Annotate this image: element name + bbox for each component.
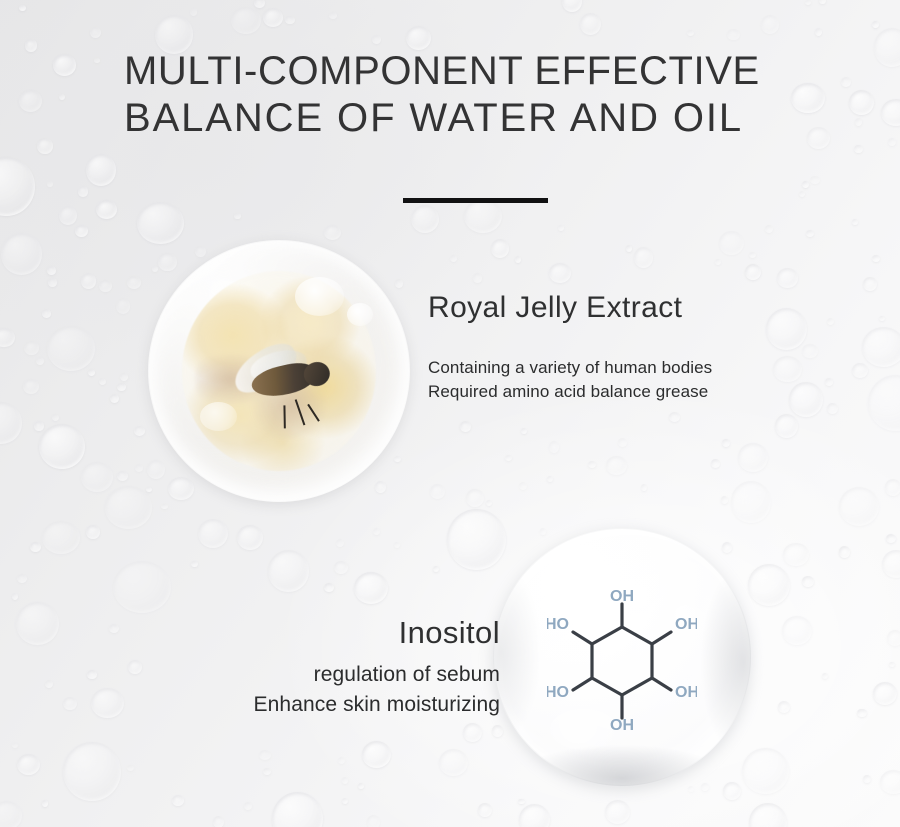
water-droplet	[810, 176, 820, 185]
water-droplet	[519, 482, 527, 490]
water-droplet	[86, 154, 116, 186]
water-droplet	[19, 5, 26, 12]
water-droplet	[433, 566, 439, 572]
water-droplet	[719, 231, 743, 255]
title-divider-bar	[403, 198, 548, 203]
water-droplet	[234, 213, 240, 220]
water-droplet	[715, 259, 721, 265]
water-droplet	[75, 225, 88, 237]
bond-lower-right	[652, 678, 671, 690]
water-droplet	[99, 378, 106, 385]
water-droplet	[94, 58, 100, 64]
water-droplet	[641, 484, 647, 491]
water-droplet	[515, 256, 521, 262]
water-droplet	[47, 326, 95, 372]
water-droplet	[47, 266, 56, 275]
water-droplet	[605, 800, 630, 824]
water-droplet	[783, 543, 808, 566]
water-droplet	[450, 255, 457, 262]
bubble-highlight	[347, 303, 373, 327]
water-droplet	[841, 77, 852, 87]
water-droplet	[36, 357, 44, 365]
water-droplet	[109, 624, 119, 633]
water-droplet	[158, 253, 176, 272]
water-droplet	[17, 754, 40, 776]
water-droplet	[731, 481, 770, 523]
water-droplet	[23, 379, 39, 394]
water-droplet	[547, 476, 553, 483]
ingredient-description-line: regulation of sebum	[254, 660, 500, 690]
water-droplet	[127, 276, 142, 289]
molecule-label-top: OH	[610, 588, 634, 605]
water-droplet	[687, 30, 694, 36]
water-droplet	[48, 278, 57, 287]
water-droplet	[558, 225, 564, 231]
water-droplet	[59, 94, 65, 100]
water-droplet	[849, 90, 873, 115]
water-droplet	[127, 765, 133, 771]
water-droplet	[117, 471, 128, 482]
water-droplet	[42, 309, 51, 317]
water-droplet	[411, 205, 440, 233]
molecule-label-lower-left: HO	[547, 684, 569, 701]
water-droplet	[727, 29, 739, 40]
water-droplet	[358, 783, 364, 789]
water-droplet	[748, 564, 791, 606]
water-droplet	[782, 616, 811, 645]
water-droplet	[805, 0, 811, 5]
water-droplet	[34, 421, 44, 430]
water-droplet	[373, 528, 380, 535]
ingredient-description: Containing a variety of human bodies Req…	[428, 356, 712, 404]
water-droplet	[30, 542, 40, 553]
water-droplet	[855, 118, 862, 126]
water-droplet	[874, 28, 900, 67]
water-droplet	[213, 816, 225, 827]
water-droplet	[128, 660, 142, 675]
water-droplet	[190, 8, 198, 16]
water-droplet	[738, 443, 768, 473]
water-droplet	[873, 682, 897, 705]
water-droplet	[12, 743, 18, 748]
water-droplet	[63, 742, 121, 802]
ingredient-royal-jelly-text: Royal Jelly Extract Containing a variety…	[428, 289, 712, 404]
water-droplet	[113, 561, 171, 613]
bond-lower-left	[573, 678, 592, 690]
water-droplet	[822, 673, 828, 679]
bond-upper-right	[652, 632, 671, 644]
water-droplet	[110, 394, 119, 403]
water-droplet	[505, 455, 512, 461]
water-droplet	[886, 534, 896, 543]
water-droplet	[81, 273, 96, 289]
water-droplet	[721, 496, 728, 504]
water-droplet	[765, 225, 774, 233]
water-droplet	[285, 16, 294, 24]
water-droplet	[117, 383, 126, 391]
water-droplet	[96, 200, 117, 219]
water-droplet	[37, 138, 52, 154]
water-droplet	[521, 428, 527, 434]
water-droplet	[90, 27, 101, 38]
water-droplet	[775, 414, 798, 438]
water-droplet	[263, 768, 271, 775]
water-droplet	[766, 308, 807, 350]
water-droplet	[195, 246, 206, 257]
water-droplet	[852, 363, 868, 378]
water-droplet	[872, 255, 880, 263]
water-droplet	[778, 701, 790, 713]
water-droplet	[549, 263, 571, 283]
water-droplet	[825, 378, 833, 385]
water-droplet	[888, 138, 896, 146]
water-droplet	[802, 344, 818, 358]
water-droplet	[463, 723, 482, 742]
water-droplet	[882, 550, 900, 579]
water-droplet	[375, 481, 386, 493]
water-droplet	[324, 225, 341, 241]
water-droplet	[231, 7, 261, 34]
ingredient-inositol-text: Inositol regulation of sebum Enhance ski…	[254, 614, 500, 720]
water-droplet	[606, 456, 627, 475]
water-droplet	[839, 487, 879, 526]
water-droplet	[722, 542, 732, 553]
water-droplet	[268, 550, 309, 591]
water-droplet	[259, 750, 271, 761]
water-droplet	[466, 489, 484, 507]
water-droplet	[464, 199, 502, 233]
water-droplet	[372, 35, 381, 44]
water-droplet	[491, 239, 509, 258]
title-line-2: BALANCE OF WATER AND OIL	[124, 95, 824, 142]
water-droplet	[588, 461, 596, 468]
water-droplet	[889, 662, 895, 667]
water-droplet	[839, 546, 851, 557]
water-droplet	[669, 412, 680, 422]
inositol-bubble-image: OH HO OH HO OH OH	[493, 528, 751, 786]
water-droplet	[761, 15, 780, 34]
water-droplet	[198, 519, 229, 549]
water-droplet	[742, 748, 789, 794]
water-droplet	[237, 525, 262, 550]
water-droplet	[519, 804, 550, 827]
water-droplet	[447, 509, 506, 571]
water-droplet	[486, 500, 492, 506]
water-droplet	[42, 521, 80, 555]
cyclohexane-ring	[592, 627, 652, 695]
water-droplet	[430, 484, 445, 499]
water-droplet	[473, 273, 482, 282]
water-droplet	[324, 583, 334, 593]
water-droplet	[146, 487, 152, 493]
water-droplet	[244, 802, 252, 809]
water-droplet	[723, 782, 741, 800]
water-droplet	[722, 439, 730, 447]
water-droplet	[25, 39, 37, 51]
water-droplet	[863, 775, 871, 783]
water-droplet	[147, 460, 165, 480]
ingredient-description-line: Containing a variety of human bodies	[428, 356, 712, 380]
water-droplet	[1, 233, 43, 275]
water-droplet	[745, 264, 760, 280]
water-droplet	[86, 525, 100, 539]
water-droplet	[87, 670, 96, 679]
water-droplet	[618, 438, 627, 447]
water-droplet	[540, 528, 547, 534]
molecule-label-lower-right: OH	[675, 684, 697, 701]
water-droplet	[17, 574, 27, 583]
water-droplet	[0, 402, 22, 443]
molecule-label-upper-left: HO	[547, 616, 569, 633]
water-droplet	[478, 803, 491, 817]
bond-upper-left	[573, 632, 592, 644]
water-droplet	[580, 13, 601, 35]
water-droplet	[777, 268, 799, 288]
water-droplet	[806, 230, 814, 237]
water-droplet	[161, 504, 167, 509]
water-droplet	[773, 356, 802, 382]
title-line-1: MULTI-COMPONENT EFFECTIVE	[124, 48, 824, 95]
water-droplet	[863, 277, 877, 290]
water-droplet	[887, 630, 900, 646]
water-droplet	[254, 0, 265, 8]
water-droplet	[342, 777, 348, 783]
water-droplet	[885, 479, 900, 495]
water-droplet	[395, 279, 403, 287]
water-droplet	[367, 815, 380, 827]
water-droplet	[329, 12, 336, 19]
water-droplet	[394, 456, 400, 462]
water-droplet	[120, 373, 128, 381]
water-droplet	[439, 749, 468, 776]
water-droplet	[634, 247, 654, 268]
water-droplet	[688, 786, 694, 792]
water-droplet	[749, 803, 787, 827]
water-droplet	[879, 316, 885, 321]
water-droplet	[168, 477, 194, 501]
water-droplet	[91, 688, 123, 718]
ingredient-name: Royal Jelly Extract	[428, 289, 712, 327]
water-droplet	[0, 801, 22, 827]
water-droplet	[53, 54, 76, 76]
water-droplet	[827, 318, 834, 325]
water-droplet	[492, 725, 504, 737]
water-droplet	[701, 783, 709, 790]
water-droplet	[63, 697, 77, 710]
water-droplet	[81, 462, 113, 492]
water-droplet	[152, 266, 158, 272]
water-droplet	[342, 798, 348, 804]
water-droplet	[12, 593, 18, 599]
ingredient-description-line: Required amino acid balance grease	[428, 380, 712, 404]
water-droplet	[362, 741, 391, 768]
water-droplet	[336, 539, 344, 547]
water-droplet	[819, 0, 825, 4]
water-droplet	[135, 464, 143, 471]
water-droplet	[626, 245, 633, 252]
royal-jelly-bubble-image	[148, 240, 410, 502]
page-title: MULTI-COMPONENT EFFECTIVE BALANCE OF WAT…	[124, 48, 824, 142]
water-droplet	[854, 145, 863, 154]
water-droplet	[868, 375, 900, 431]
water-droplet	[881, 99, 900, 126]
water-droplet	[263, 8, 283, 27]
water-droplet	[802, 576, 814, 587]
water-droplet	[562, 0, 583, 12]
ingredient-description-line: Enhance skin moisturizing	[254, 690, 500, 720]
water-droplet	[394, 542, 400, 548]
water-droplet	[0, 328, 15, 348]
water-droplet	[16, 602, 59, 645]
water-droplet	[24, 341, 38, 355]
water-droplet	[857, 709, 866, 718]
water-droplet	[549, 441, 559, 452]
ingredient-name: Inositol	[254, 614, 500, 652]
water-droplet	[52, 414, 59, 421]
inositol-molecule-diagram: OH HO OH HO OH OH	[547, 582, 697, 732]
water-droplet	[0, 157, 35, 217]
water-droplet	[88, 369, 95, 376]
water-droplet	[172, 795, 184, 806]
water-droplet	[78, 186, 89, 197]
water-droplet	[116, 298, 130, 313]
water-droplet	[99, 280, 112, 292]
water-droplet	[338, 757, 345, 764]
water-droplet	[272, 792, 323, 827]
water-droplet	[815, 28, 822, 35]
water-droplet	[191, 561, 197, 567]
water-droplet	[460, 421, 471, 432]
water-droplet	[799, 191, 805, 197]
infographic-page: MULTI-COMPONENT EFFECTIVE BALANCE OF WAT…	[0, 0, 900, 827]
water-droplet	[749, 252, 756, 258]
water-droplet	[105, 486, 152, 528]
water-droplet	[852, 219, 858, 224]
molecule-label-upper-right: OH	[675, 616, 697, 633]
water-droplet	[802, 181, 809, 188]
bubble-highlight	[295, 277, 345, 316]
water-droplet	[406, 26, 431, 50]
water-droplet	[862, 327, 900, 367]
water-droplet	[518, 799, 524, 805]
water-droplet	[39, 424, 85, 469]
water-droplet	[59, 206, 77, 225]
water-droplet	[827, 403, 838, 414]
water-droplet	[45, 680, 53, 689]
water-droplet	[47, 181, 53, 187]
water-droplet	[334, 561, 348, 574]
molecule-label-bottom: OH	[610, 717, 634, 732]
water-droplet	[872, 21, 878, 28]
water-droplet	[137, 202, 184, 244]
water-droplet	[134, 426, 145, 436]
water-droplet	[789, 382, 823, 416]
water-droplet	[880, 770, 900, 794]
ingredient-description: regulation of sebum Enhance skin moistur…	[254, 660, 500, 720]
water-droplet	[354, 572, 388, 604]
water-droplet	[19, 90, 42, 112]
water-droplet	[711, 459, 720, 467]
water-droplet	[42, 800, 48, 806]
